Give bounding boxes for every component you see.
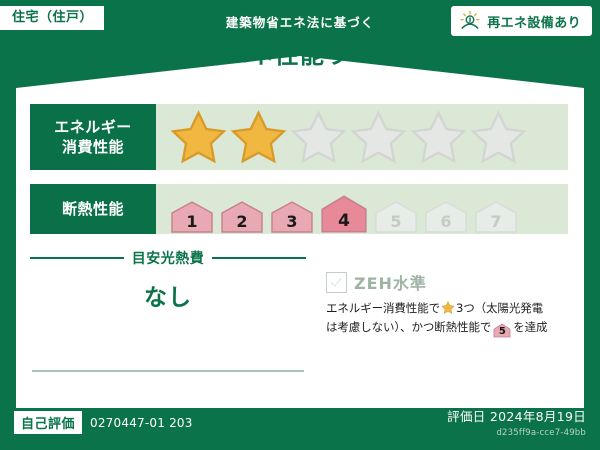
rule-right (212, 257, 306, 259)
building-type-badge: 住宅（住戸） (0, 6, 104, 30)
energy-label-root: 住宅（住戸） 再エネ設備あり 建築物省エネ法に基づく 省エネ性能ラベル (0, 0, 600, 450)
zeh-desc-part2: 3つ（太陽光発電 (456, 301, 543, 315)
star-empty-icon (410, 110, 467, 164)
inline-level-chip: 5 (493, 323, 511, 338)
footer-left: 自己評価 0270447-01 203 (14, 411, 193, 434)
rule-left (30, 257, 124, 259)
energy-label-line1: エネルギー (54, 117, 132, 137)
chip-value: 4 (338, 211, 350, 231)
chip-value: 6 (440, 212, 451, 231)
renewable-energy-label: 再エネ設備あり (487, 12, 581, 31)
chip-value: 1 (186, 212, 197, 231)
utility-cost-heading: 目安光熱費 (30, 248, 306, 268)
panel-content: エネルギー 消費性能 断熱性能 1234567 目安光熱費 なし (16, 56, 584, 408)
check-icon (330, 276, 343, 289)
energy-performance-row: エネルギー 消費性能 (30, 104, 568, 170)
insulation-chip-6: 6 (424, 200, 468, 234)
document-hash: d235ff9a-cce7-49bb (447, 428, 586, 438)
left-column-divider (32, 370, 304, 372)
star-rating (156, 110, 527, 164)
inline-chip-value: 5 (499, 326, 506, 337)
energy-label-line2: 消費性能 (62, 137, 124, 157)
sun-icon (459, 10, 481, 32)
zeh-heading: ZEH水準 (326, 270, 427, 294)
zeh-description: エネルギー消費性能で3つ（太陽光発電は考慮しない）、かつ断熱性能で5を達成 (326, 299, 596, 338)
evaluation-type-badge: 自己評価 (14, 411, 82, 434)
zeh-desc-part4: を達成 (513, 320, 547, 334)
renewable-energy-badge: 再エネ設備あり (451, 6, 592, 36)
zeh-desc-part3: は考慮しない）、かつ断熱性能で (326, 320, 491, 334)
evaluation-date: 評価日 2024年8月19日 (447, 406, 586, 425)
chip-value: 2 (236, 212, 247, 231)
insulation-label-text: 断熱性能 (62, 199, 124, 219)
star-empty-icon (350, 110, 407, 164)
energy-performance-label: エネルギー 消費性能 (30, 104, 156, 170)
utility-cost-value: なし (30, 278, 306, 312)
footer-right: 評価日 2024年8月19日 d235ff9a-cce7-49bb (447, 406, 586, 438)
insulation-level-chips: 1234567 (156, 184, 518, 234)
insulation-chip-5: 5 (374, 200, 418, 234)
star-empty-icon (290, 110, 347, 164)
evaluation-number: 0270447-01 203 (90, 416, 193, 430)
insulation-chip-7: 7 (474, 200, 518, 234)
utility-cost-title: 目安光熱費 (132, 248, 205, 268)
chip-value: 5 (390, 212, 401, 231)
building-type-label: 住宅（住戸） (12, 10, 93, 25)
star-filled-icon (230, 110, 287, 164)
chip-value: 7 (490, 212, 501, 231)
insulation-chip-1: 1 (170, 200, 214, 234)
insulation-performance-body: 1234567 (156, 184, 568, 234)
insulation-chip-4: 4 (320, 194, 368, 234)
star-filled-icon (170, 110, 227, 164)
insulation-chip-3: 3 (270, 200, 314, 234)
zeh-checkbox[interactable] (326, 272, 347, 293)
zeh-title: ZEH水準 (354, 270, 427, 294)
insulation-performance-label: 断熱性能 (30, 184, 156, 234)
inline-star-icon (441, 301, 455, 314)
zeh-desc-part1: エネルギー消費性能で (326, 301, 440, 315)
insulation-chip-2: 2 (220, 200, 264, 234)
energy-performance-body (156, 104, 568, 170)
chip-value: 3 (286, 212, 297, 231)
star-empty-icon (470, 110, 527, 164)
insulation-performance-row: 断熱性能 1234567 (30, 184, 568, 234)
